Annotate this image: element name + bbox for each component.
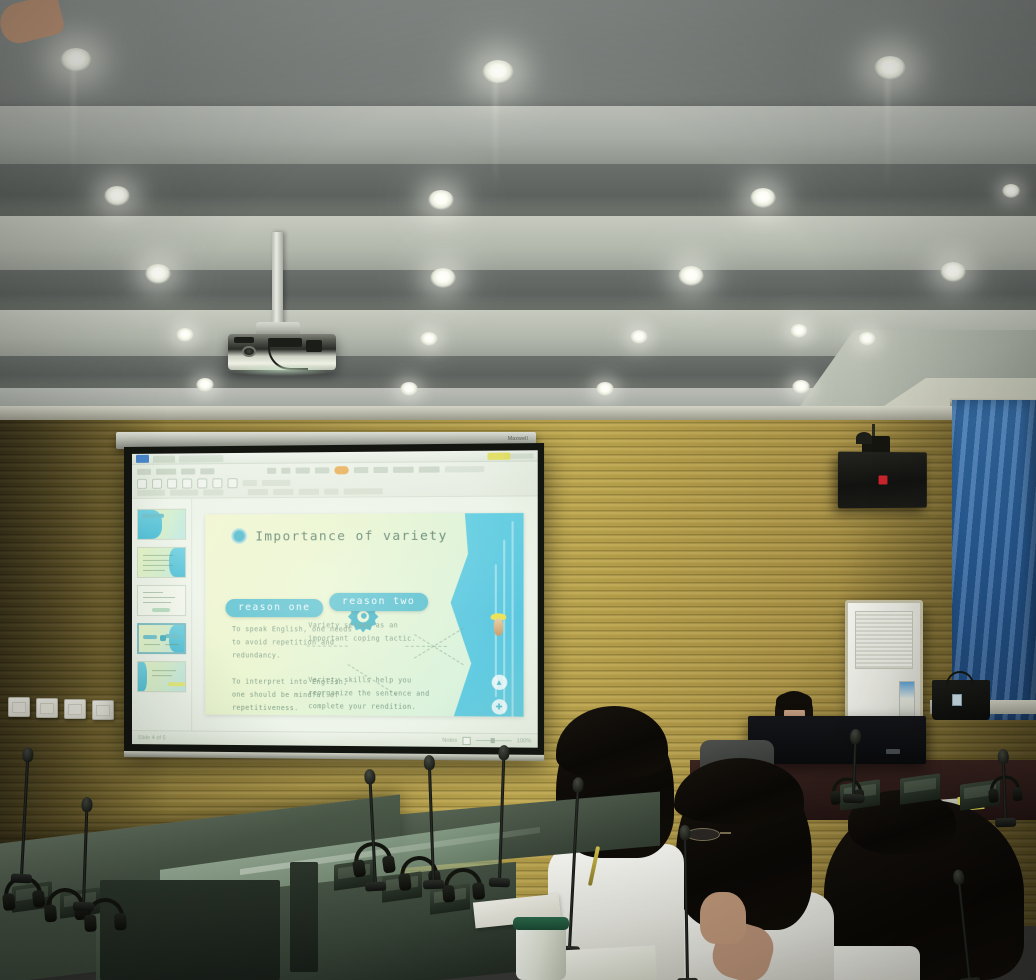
- projection-screen[interactable]: ▲ ✚ Importance of variety: [124, 443, 544, 758]
- travel-cup: [516, 924, 566, 980]
- ribbon-icon-button[interactable]: [212, 478, 222, 488]
- ribbon-tool[interactable]: [373, 467, 387, 473]
- ceiling-downlight: [874, 56, 906, 80]
- light-switch-plate[interactable]: [92, 700, 114, 720]
- ceiling-downlight: [420, 332, 438, 346]
- ribbon-tab[interactable]: [181, 468, 195, 474]
- view-mode-button[interactable]: [462, 736, 470, 744]
- ceiling-downlight: [750, 188, 776, 208]
- projected-image: ▲ ✚ Importance of variety: [132, 450, 538, 747]
- ceiling-downlight: [596, 382, 614, 396]
- light-switch-plate[interactable]: [36, 698, 58, 718]
- ceiling-downlight: [792, 380, 810, 394]
- projector-light-glow: [226, 364, 338, 376]
- ceiling-downlight: [430, 268, 456, 288]
- ribbon-icon-button[interactable]: [197, 478, 207, 488]
- ribbon-tool[interactable]: [393, 467, 414, 473]
- ribbon-tool[interactable]: [203, 489, 223, 495]
- tree-icon: ▲: [491, 675, 507, 690]
- papers-on-desk: [559, 946, 657, 980]
- reason-two-point-1: Variety serves as an important coping ta…: [308, 619, 429, 645]
- ribbon-tool[interactable]: [354, 467, 368, 473]
- cross-icon: ✚: [491, 699, 507, 714]
- projector-lens: [242, 346, 256, 357]
- ceiling-downlight: [858, 332, 876, 346]
- light-switch-plate[interactable]: [8, 697, 30, 717]
- operator-fringe: [776, 692, 812, 710]
- black-bag-on-sill: [932, 680, 990, 720]
- ribbon-tool[interactable]: [315, 467, 329, 473]
- zoom-level: 100%: [517, 738, 532, 744]
- reason-two-point-2: Variety skills help you reorganize the s…: [308, 674, 429, 714]
- slide-thumbnail[interactable]: [137, 547, 186, 578]
- student-left: [0, 0, 62, 40]
- ribbon-tool[interactable]: [248, 489, 268, 495]
- ceiling-downlight: [678, 266, 704, 286]
- wall-speaker: [838, 452, 927, 509]
- desk-front-panel: [100, 880, 280, 980]
- reason-one-label: reason one: [226, 599, 323, 617]
- projector-mount-pole: [272, 232, 283, 330]
- control-desk-monitor[interactable]: [748, 716, 926, 764]
- slide-title-row: Importance of variety: [232, 528, 448, 544]
- ribbon-tool[interactable]: [281, 468, 290, 474]
- slide-thumbnail-selected[interactable]: [137, 623, 186, 654]
- ribbon-tool[interactable]: [296, 467, 310, 473]
- ribbon-tab[interactable]: [200, 468, 214, 474]
- boat-icon: [490, 613, 506, 638]
- document-title-tab[interactable]: [179, 455, 223, 462]
- ribbon-icon-button[interactable]: [228, 478, 238, 488]
- cup-lid: [513, 917, 569, 930]
- ceiling-downlight: [428, 190, 454, 210]
- ribbon-tool[interactable]: [324, 489, 338, 495]
- ribbon-active-tool[interactable]: [334, 466, 348, 474]
- slide-title: Importance of variety: [255, 528, 447, 544]
- ribbon-tool[interactable]: [273, 489, 293, 495]
- app-ribbon: [132, 462, 538, 499]
- slide-thumbnail-rail[interactable]: [132, 499, 192, 731]
- ribbon-tool[interactable]: [243, 480, 257, 486]
- light-switch-plate[interactable]: [64, 699, 86, 719]
- ribbon-icon-button[interactable]: [167, 479, 177, 489]
- ribbon-tool[interactable]: [262, 480, 290, 486]
- eyeglasses: [686, 828, 720, 841]
- ceiling: [0, 0, 1036, 420]
- ac-air-grille: [855, 611, 913, 669]
- zoom-slider[interactable]: [476, 740, 512, 742]
- slide-thumbnail[interactable]: [137, 585, 186, 616]
- ribbon-icon-button[interactable]: [137, 479, 147, 489]
- slide-thumbnail[interactable]: [137, 661, 186, 692]
- speaker-brand-logo: [879, 475, 888, 484]
- ceiling-downlight: [482, 60, 514, 84]
- classroom-scene: Maxwell: [0, 0, 1036, 980]
- student-left-arm: [0, 0, 66, 47]
- ceiling-downlight: [196, 378, 214, 392]
- ribbon-tool[interactable]: [299, 489, 319, 495]
- slide-counter: Slide 4 of 5: [138, 735, 166, 741]
- highlight-badge: [487, 453, 510, 460]
- slide-thumbnail[interactable]: [137, 509, 186, 540]
- bag-luggage-tag: [952, 694, 962, 706]
- ribbon-tool[interactable]: [137, 490, 165, 496]
- ribbon-icon-button[interactable]: [152, 479, 162, 489]
- ceiling-downlight: [145, 264, 171, 284]
- slide-canvas[interactable]: ▲ ✚ Importance of variety: [192, 496, 538, 733]
- notes-button[interactable]: Notes: [442, 737, 457, 743]
- ribbon-tab[interactable]: [137, 469, 151, 475]
- headset[interactable]: [443, 866, 484, 903]
- ribbon-tool[interactable]: [419, 466, 440, 472]
- ribbon-tool[interactable]: [344, 488, 383, 494]
- ribbon-tab[interactable]: [156, 469, 176, 475]
- desk-divider-panel: [290, 862, 318, 972]
- ceiling-downlight: [1002, 184, 1020, 198]
- ribbon-icon-button[interactable]: [182, 478, 192, 488]
- current-slide: ▲ ✚ Importance of variety: [206, 513, 524, 717]
- ribbon-tool[interactable]: [170, 489, 198, 495]
- ceiling-downlight: [104, 186, 130, 206]
- app-logo-icon: [136, 455, 149, 463]
- ribbon-tool[interactable]: [445, 466, 485, 472]
- ribbon-tool[interactable]: [267, 468, 276, 474]
- title-bullet-icon: [232, 529, 247, 544]
- ceiling-downlight: [176, 328, 194, 342]
- screen-brand-label: Maxwell: [508, 436, 528, 442]
- ceiling-downlight: [630, 330, 648, 344]
- ceiling-downlight: [940, 262, 966, 282]
- wall-crown-moulding: [0, 406, 1036, 420]
- ceiling-downlight: [790, 324, 808, 338]
- reason-two-label: reason two: [330, 593, 428, 611]
- app-status-bar: Slide 4 of 5 Notes 100%: [132, 730, 538, 748]
- ceiling-downlight: [60, 48, 92, 72]
- menu-tab[interactable]: [153, 455, 175, 462]
- ceiling-downlight: [400, 382, 418, 396]
- student-center-hand: [700, 892, 746, 944]
